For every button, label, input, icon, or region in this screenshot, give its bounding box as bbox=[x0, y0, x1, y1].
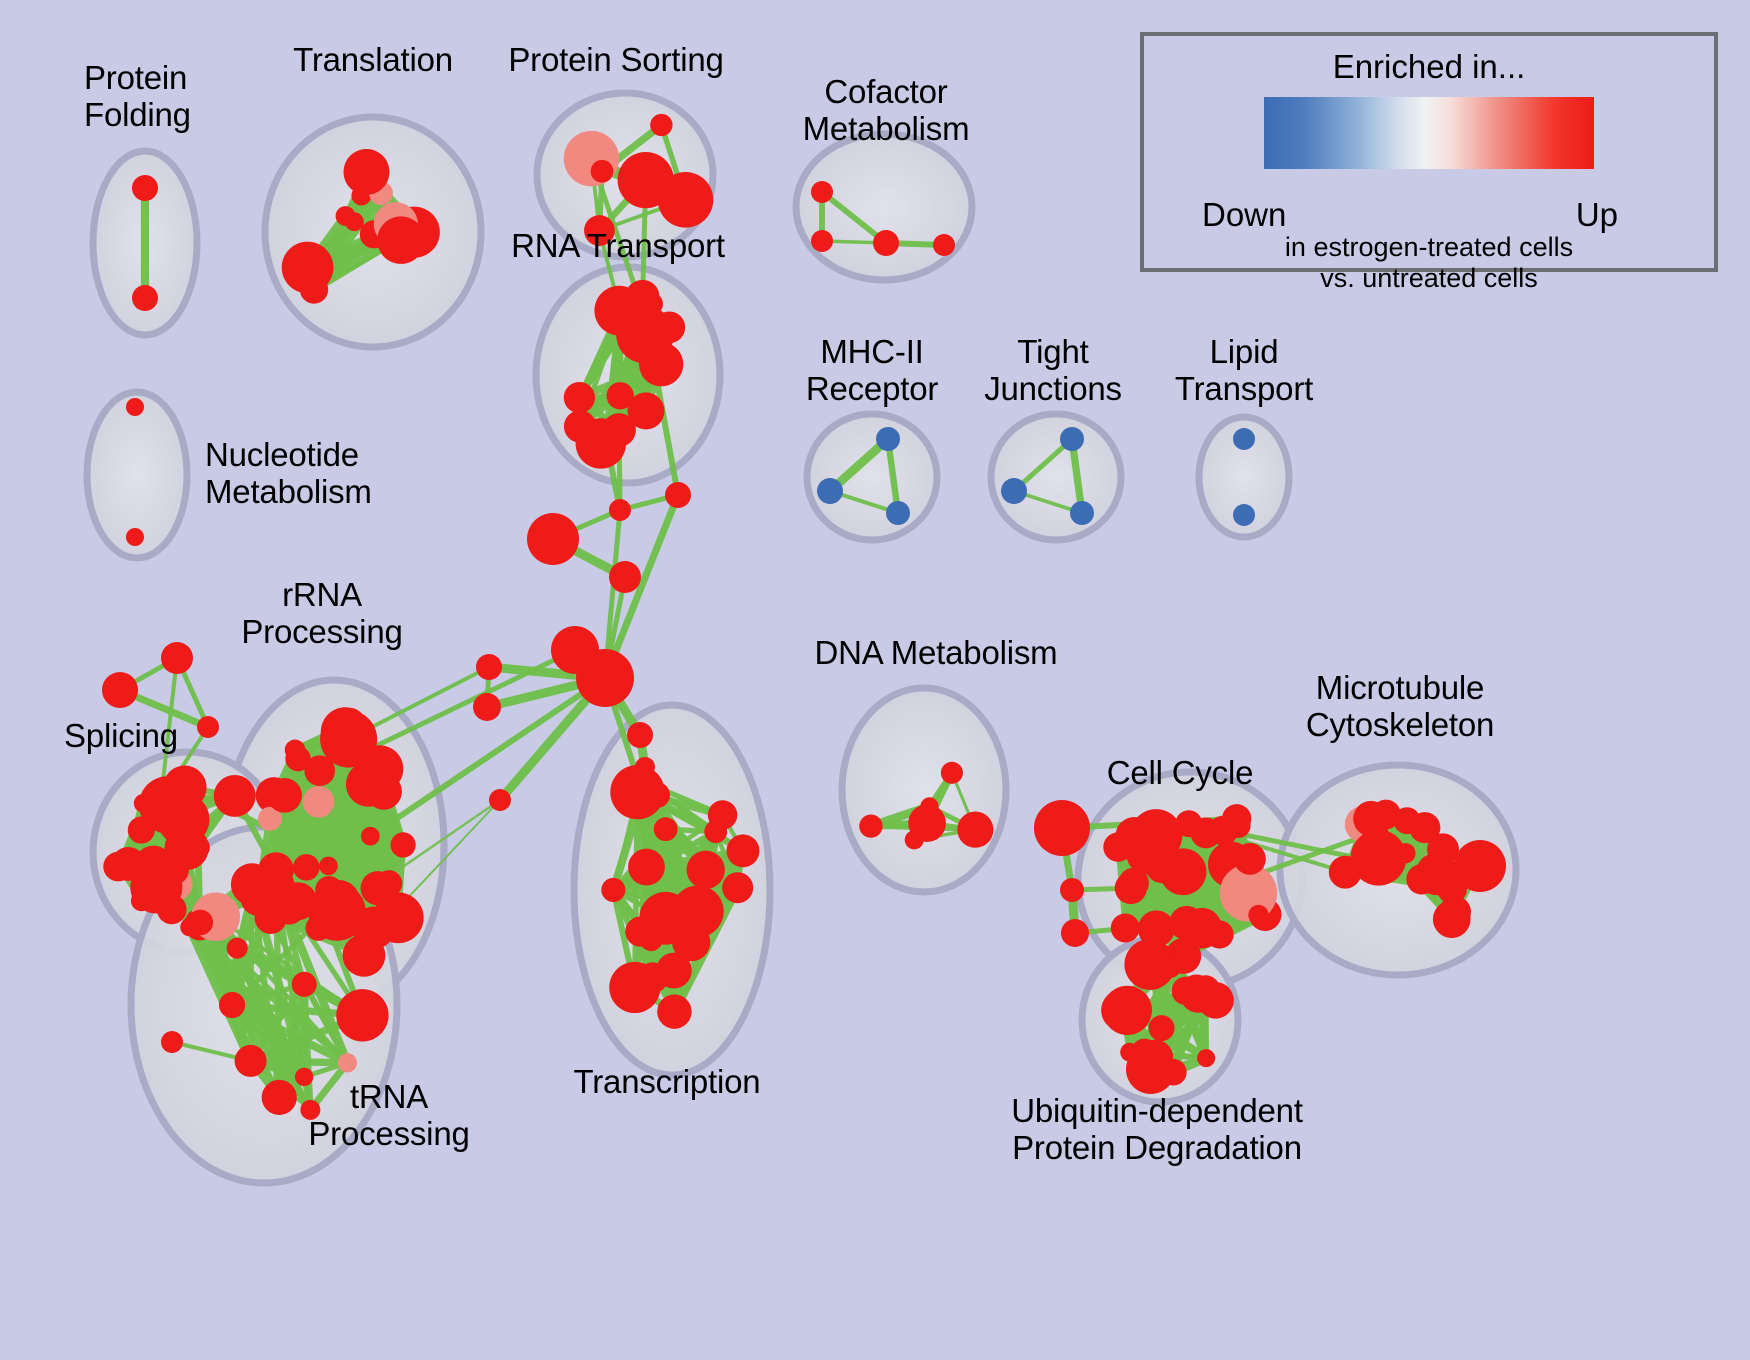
network-node-bridge bbox=[1061, 919, 1089, 947]
cluster-label-rrna-processing: rRNA Processing bbox=[241, 577, 402, 651]
network-node-rrna-processing bbox=[267, 778, 302, 813]
cluster-label-splicing: Splicing bbox=[64, 718, 178, 755]
cluster-label-cofactor-metabolism: Cofactor Metabolism bbox=[803, 74, 970, 148]
network-node-cell-cycle bbox=[1181, 908, 1222, 949]
legend-color-gradient bbox=[1264, 97, 1594, 169]
network-node-nucleotide-metabolism bbox=[126, 528, 144, 546]
network-node-trna-processing bbox=[336, 989, 388, 1041]
network-node-rrna-processing bbox=[315, 876, 343, 904]
cluster-label-mhc-ii-receptor: MHC-II Receptor bbox=[806, 334, 938, 408]
network-node-bridge bbox=[1034, 800, 1090, 856]
network-node-dna-metabolism bbox=[908, 804, 946, 842]
network-node-splicing bbox=[139, 776, 196, 833]
network-node-rrna-processing bbox=[356, 745, 403, 792]
network-node-lipid-transport bbox=[1233, 428, 1255, 450]
network-node-cell-cycle bbox=[1116, 817, 1153, 854]
network-node-ubiquitin-protein-degradation bbox=[1131, 1039, 1157, 1065]
network-node-trna-processing bbox=[227, 938, 248, 959]
network-node-cofactor-metabolism bbox=[811, 181, 833, 203]
network-node-mhc-ii-receptor bbox=[817, 478, 843, 504]
network-node-bridge bbox=[476, 654, 502, 680]
cluster-label-translation: Translation bbox=[293, 42, 453, 79]
network-node-trna-processing bbox=[292, 972, 317, 997]
network-node-transcription bbox=[601, 878, 625, 902]
network-node-cell-cycle bbox=[1111, 913, 1140, 942]
network-node-bridge bbox=[1439, 896, 1471, 928]
network-node-protein-folding bbox=[132, 175, 158, 201]
network-node-protein-folding bbox=[132, 285, 158, 311]
network-node-tight-junctions bbox=[1060, 427, 1084, 451]
network-node-translation bbox=[300, 275, 328, 303]
legend-high-label: Up bbox=[1576, 196, 1618, 234]
network-node-transcription bbox=[654, 817, 678, 841]
network-node-cofactor-metabolism bbox=[873, 230, 899, 256]
network-node-rrna-processing bbox=[285, 740, 306, 761]
network-node-bridge bbox=[609, 561, 641, 593]
network-node-dna-metabolism bbox=[859, 814, 882, 837]
network-node-ubiquitin-protein-degradation bbox=[1103, 986, 1152, 1035]
network-node-microtubule-cytoskeleton bbox=[1329, 856, 1362, 889]
network-node-bridge bbox=[665, 482, 691, 508]
network-node-trna-processing bbox=[235, 1045, 267, 1077]
network-node-transcription bbox=[687, 851, 725, 889]
network-node-protein-sorting bbox=[591, 160, 614, 183]
network-node-nucleotide-metabolism bbox=[126, 398, 144, 416]
legend-title: Enriched in... bbox=[1144, 48, 1714, 86]
cluster-label-lipid-transport: Lipid Transport bbox=[1175, 334, 1313, 408]
network-node-transcription bbox=[637, 962, 668, 993]
network-node-bridge bbox=[197, 716, 219, 738]
network-node-rrna-processing bbox=[304, 755, 335, 786]
cluster-label-ubiquitin-protein-degradation: Ubiquitin-dependent Protein Degradation bbox=[1011, 1093, 1303, 1167]
network-node-rrna-processing bbox=[293, 854, 320, 881]
network-node-protein-sorting bbox=[658, 172, 714, 228]
cluster-label-microtubule-cytoskeleton: Microtubule Cytoskeleton bbox=[1306, 670, 1494, 744]
network-node-cell-cycle bbox=[1234, 843, 1266, 875]
network-node-rna-transport bbox=[594, 286, 644, 336]
cluster-label-nucleotide-metabolism: Nucleotide Metabolism bbox=[205, 437, 372, 511]
legend-subtitle-line2: vs. untreated cells bbox=[1144, 263, 1714, 294]
network-node-translation bbox=[344, 149, 390, 195]
cluster-ellipse-dna-metabolism bbox=[842, 688, 1006, 892]
network-node-splicing bbox=[214, 775, 256, 817]
network-node-rna-transport bbox=[564, 382, 595, 413]
network-node-rna-transport bbox=[640, 293, 663, 316]
network-node-rrna-processing bbox=[390, 832, 415, 857]
network-node-bridge bbox=[527, 513, 579, 565]
network-node-rrna-processing bbox=[321, 707, 370, 756]
network-node-dna-metabolism bbox=[957, 812, 993, 848]
cluster-label-rna-transport: RNA Transport bbox=[511, 228, 725, 265]
enrichment-map-figure: Protein FoldingTranslationProtein Sortin… bbox=[0, 0, 1750, 1360]
network-node-cell-cycle bbox=[1208, 816, 1238, 846]
cluster-label-cell-cycle: Cell Cycle bbox=[1107, 755, 1254, 792]
cluster-ellipse-tight-junctions bbox=[991, 414, 1121, 540]
network-node-rrna-processing bbox=[376, 870, 403, 897]
network-node-bridge bbox=[1060, 878, 1084, 902]
network-node-ubiquitin-protein-degradation bbox=[1149, 1015, 1175, 1041]
network-node-protein-sorting bbox=[650, 114, 672, 136]
network-node-bridge bbox=[489, 789, 511, 811]
network-node-tight-junctions bbox=[1070, 501, 1094, 525]
cluster-label-protein-folding: Protein Folding bbox=[84, 60, 191, 134]
network-node-trna-processing bbox=[262, 1080, 297, 1115]
cluster-label-dna-metabolism: DNA Metabolism bbox=[815, 635, 1058, 672]
network-node-rrna-processing bbox=[306, 915, 332, 941]
network-node-transcription bbox=[722, 872, 753, 903]
network-node-rrna-processing bbox=[303, 786, 335, 818]
legend-box: Enriched in... Down Up in estrogen-treat… bbox=[1140, 32, 1718, 272]
network-node-splicing bbox=[103, 852, 133, 882]
network-node-cell-cycle bbox=[1248, 905, 1268, 925]
network-node-bridge bbox=[102, 672, 138, 708]
network-node-splicing bbox=[157, 854, 189, 886]
network-node-ubiquitin-protein-degradation bbox=[1161, 956, 1181, 976]
network-node-rrna-processing bbox=[255, 902, 287, 934]
network-node-transcription bbox=[628, 849, 665, 886]
network-node-transcription bbox=[708, 800, 738, 830]
network-node-transcription bbox=[657, 994, 691, 1028]
network-node-cofactor-metabolism bbox=[811, 230, 833, 252]
network-node-trna-processing bbox=[219, 992, 245, 1018]
network-node-translation bbox=[377, 216, 424, 263]
network-node-ubiquitin-protein-degradation bbox=[1160, 1059, 1187, 1086]
network-node-cofactor-metabolism bbox=[933, 234, 955, 256]
legend-low-label: Down bbox=[1202, 196, 1286, 234]
network-node-mhc-ii-receptor bbox=[876, 427, 900, 451]
network-node-rna-transport bbox=[576, 418, 626, 468]
cluster-label-tight-junctions: Tight Junctions bbox=[984, 334, 1122, 408]
network-node-lipid-transport bbox=[1233, 504, 1255, 526]
network-node-bridge bbox=[576, 649, 634, 707]
network-node-trna-processing bbox=[338, 1053, 357, 1072]
network-node-tight-junctions bbox=[1001, 478, 1027, 504]
network-node-mhc-ii-receptor bbox=[886, 501, 910, 525]
legend-subtitle: in estrogen-treated cells vs. untreated … bbox=[1144, 232, 1714, 294]
network-node-trna-processing bbox=[187, 910, 213, 936]
network-node-rrna-processing bbox=[373, 914, 393, 934]
network-node-rrna-processing bbox=[361, 827, 380, 846]
cluster-label-transcription: Transcription bbox=[574, 1064, 761, 1101]
network-node-translation bbox=[336, 206, 356, 226]
network-node-bridge bbox=[1454, 840, 1506, 892]
network-node-rrna-processing bbox=[319, 857, 338, 876]
network-node-rrna-processing bbox=[343, 934, 386, 977]
network-node-ubiquitin-protein-degradation bbox=[1180, 975, 1218, 1013]
network-node-bridge bbox=[161, 642, 193, 674]
network-node-ubiquitin-protein-degradation bbox=[1197, 1049, 1215, 1067]
network-node-bridge bbox=[635, 757, 655, 777]
network-node-bridge bbox=[161, 1031, 183, 1053]
network-node-trna-processing bbox=[258, 867, 294, 903]
network-node-bridge bbox=[644, 782, 670, 808]
cluster-label-trna-processing: tRNA Processing bbox=[308, 1079, 469, 1153]
network-node-microtubule-cytoskeleton bbox=[1409, 812, 1440, 843]
network-node-bridge bbox=[627, 722, 653, 748]
cluster-ellipse-mhc-ii-receptor bbox=[807, 414, 937, 540]
legend-subtitle-line1: in estrogen-treated cells bbox=[1144, 232, 1714, 263]
network-node-microtubule-cytoskeleton bbox=[1406, 864, 1437, 895]
network-node-microtubule-cytoskeleton bbox=[1371, 800, 1401, 830]
network-node-bridge bbox=[609, 499, 631, 521]
network-node-splicing bbox=[186, 835, 210, 859]
network-node-microtubule-cytoskeleton bbox=[1395, 843, 1415, 863]
cluster-label-protein-sorting: Protein Sorting bbox=[508, 42, 723, 79]
network-node-transcription bbox=[727, 834, 760, 867]
network-node-rna-transport bbox=[607, 382, 634, 409]
network-node-dna-metabolism bbox=[941, 762, 963, 784]
network-node-cell-cycle bbox=[1175, 810, 1202, 837]
network-node-bridge bbox=[473, 693, 501, 721]
network-node-transcription bbox=[640, 928, 663, 951]
